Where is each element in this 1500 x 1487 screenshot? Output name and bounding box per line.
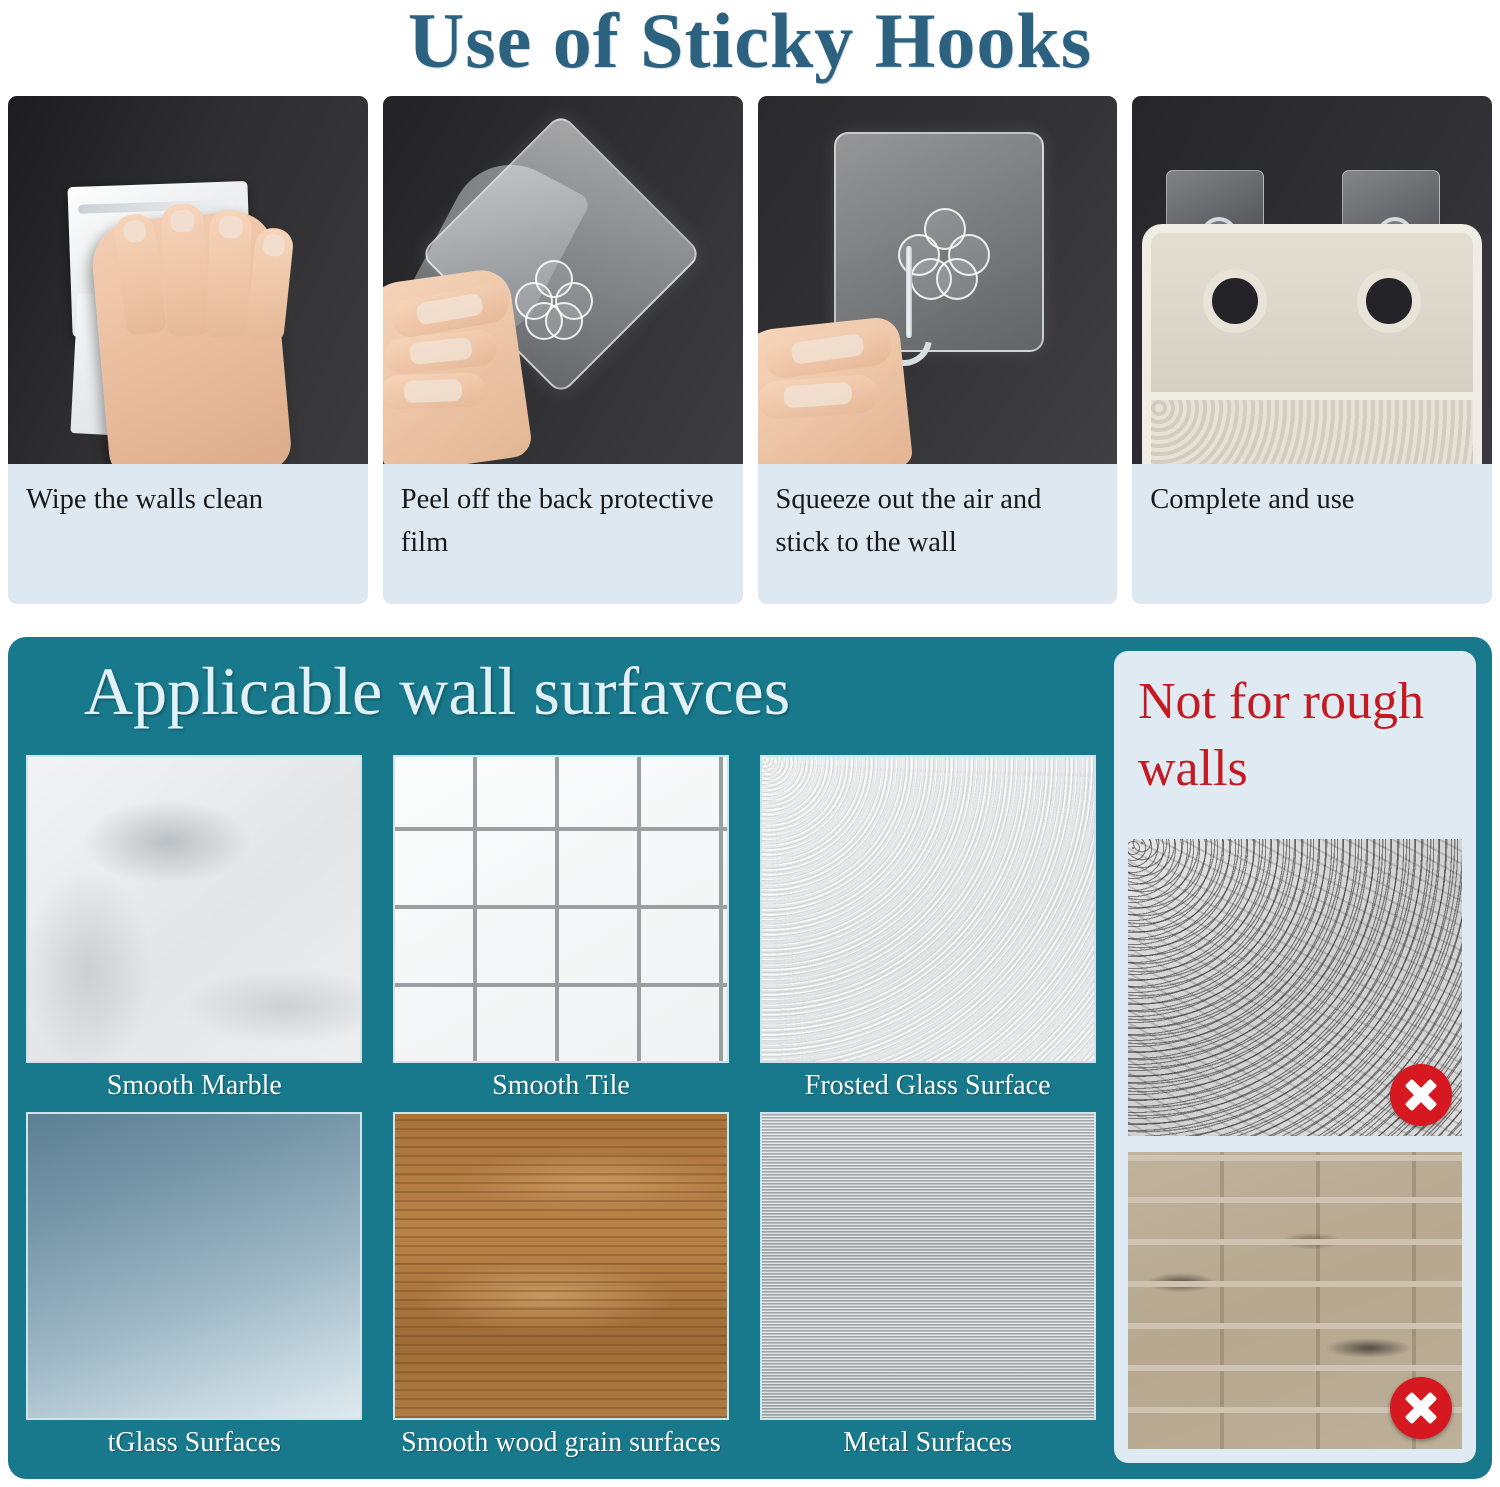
x-mark-icon <box>1390 1377 1452 1439</box>
surface-label: Frosted Glass Surface <box>805 1063 1051 1102</box>
step-4-photo-complete-and-use <box>1132 96 1492 464</box>
surface-item-smooth-tile: Smooth Tile <box>391 755 732 1106</box>
page-title: Use of Sticky Hooks <box>0 0 1500 96</box>
grommet-left-shape <box>1203 269 1267 333</box>
not-for-rough-walls-card: Not for rough walls <box>1114 651 1476 1463</box>
panel-heading: Applicable wall surfavces <box>24 651 1098 755</box>
x-mark-icon <box>1390 1064 1452 1126</box>
mesh-pocket-shape <box>1151 392 1473 464</box>
surface-label: Smooth wood grain surfaces <box>401 1420 721 1459</box>
finger-shape <box>383 372 486 410</box>
not-for-title: Not for rough walls <box>1128 669 1462 839</box>
step-4-caption: Complete and use <box>1132 464 1492 604</box>
surface-item-frosted-glass: Frosted Glass Surface <box>757 755 1098 1106</box>
step-1-caption: Wipe the walls clean <box>8 464 368 604</box>
grommet-right-shape <box>1357 269 1421 333</box>
step-1-photo-wipe-wall <box>8 96 368 464</box>
applicable-surfaces-panel: Applicable wall surfavces Smooth Marble … <box>8 637 1492 1479</box>
glass-swatch <box>26 1112 362 1420</box>
rough-concrete-photo <box>1128 839 1462 1136</box>
surface-item-metal: Metal Surfaces <box>757 1112 1098 1463</box>
surface-item-glass: tGlass Surfaces <box>24 1112 365 1463</box>
rough-brick-photo <box>1128 1152 1462 1449</box>
step-2-photo-peel-film <box>383 96 743 464</box>
surface-item-smooth-marble: Smooth Marble <box>24 755 365 1106</box>
finger-shape <box>161 203 210 337</box>
applicable-surfaces-left: Applicable wall surfavces Smooth Marble … <box>24 651 1098 1463</box>
surface-item-wood-grain: Smooth wood grain surfaces <box>391 1112 732 1463</box>
step-card-1: Wipe the walls clean <box>8 96 368 604</box>
step-card-4: Complete and use <box>1132 96 1492 604</box>
step-3-caption: Squeeze out the air and stick to the wal… <box>758 464 1118 604</box>
surface-label: Metal Surfaces <box>843 1420 1012 1459</box>
marble-swatch <box>26 755 362 1063</box>
surface-label: Smooth Tile <box>492 1063 630 1102</box>
step-card-3: Squeeze out the air and stick to the wal… <box>758 96 1118 604</box>
surface-label: Smooth Marble <box>107 1063 282 1102</box>
flower-hook-base-shape <box>515 260 589 334</box>
step-3-photo-press-hook <box>758 96 1118 464</box>
step-card-2: Peel off the back protective film <box>383 96 743 604</box>
fabric-organizer-shape <box>1142 224 1482 464</box>
steps-strip: Wipe the walls clean Peel off the back p… <box>0 96 1500 604</box>
step-2-caption: Peel off the back protective film <box>383 464 743 604</box>
frosted-glass-swatch <box>760 755 1096 1063</box>
wood-swatch <box>393 1112 729 1420</box>
surface-label: tGlass Surfaces <box>108 1420 281 1459</box>
tile-swatch <box>393 755 729 1063</box>
metal-swatch <box>760 1112 1096 1420</box>
surfaces-grid: Smooth Marble Smooth Tile Frosted Glass … <box>24 755 1098 1463</box>
finger-shape <box>206 209 252 338</box>
